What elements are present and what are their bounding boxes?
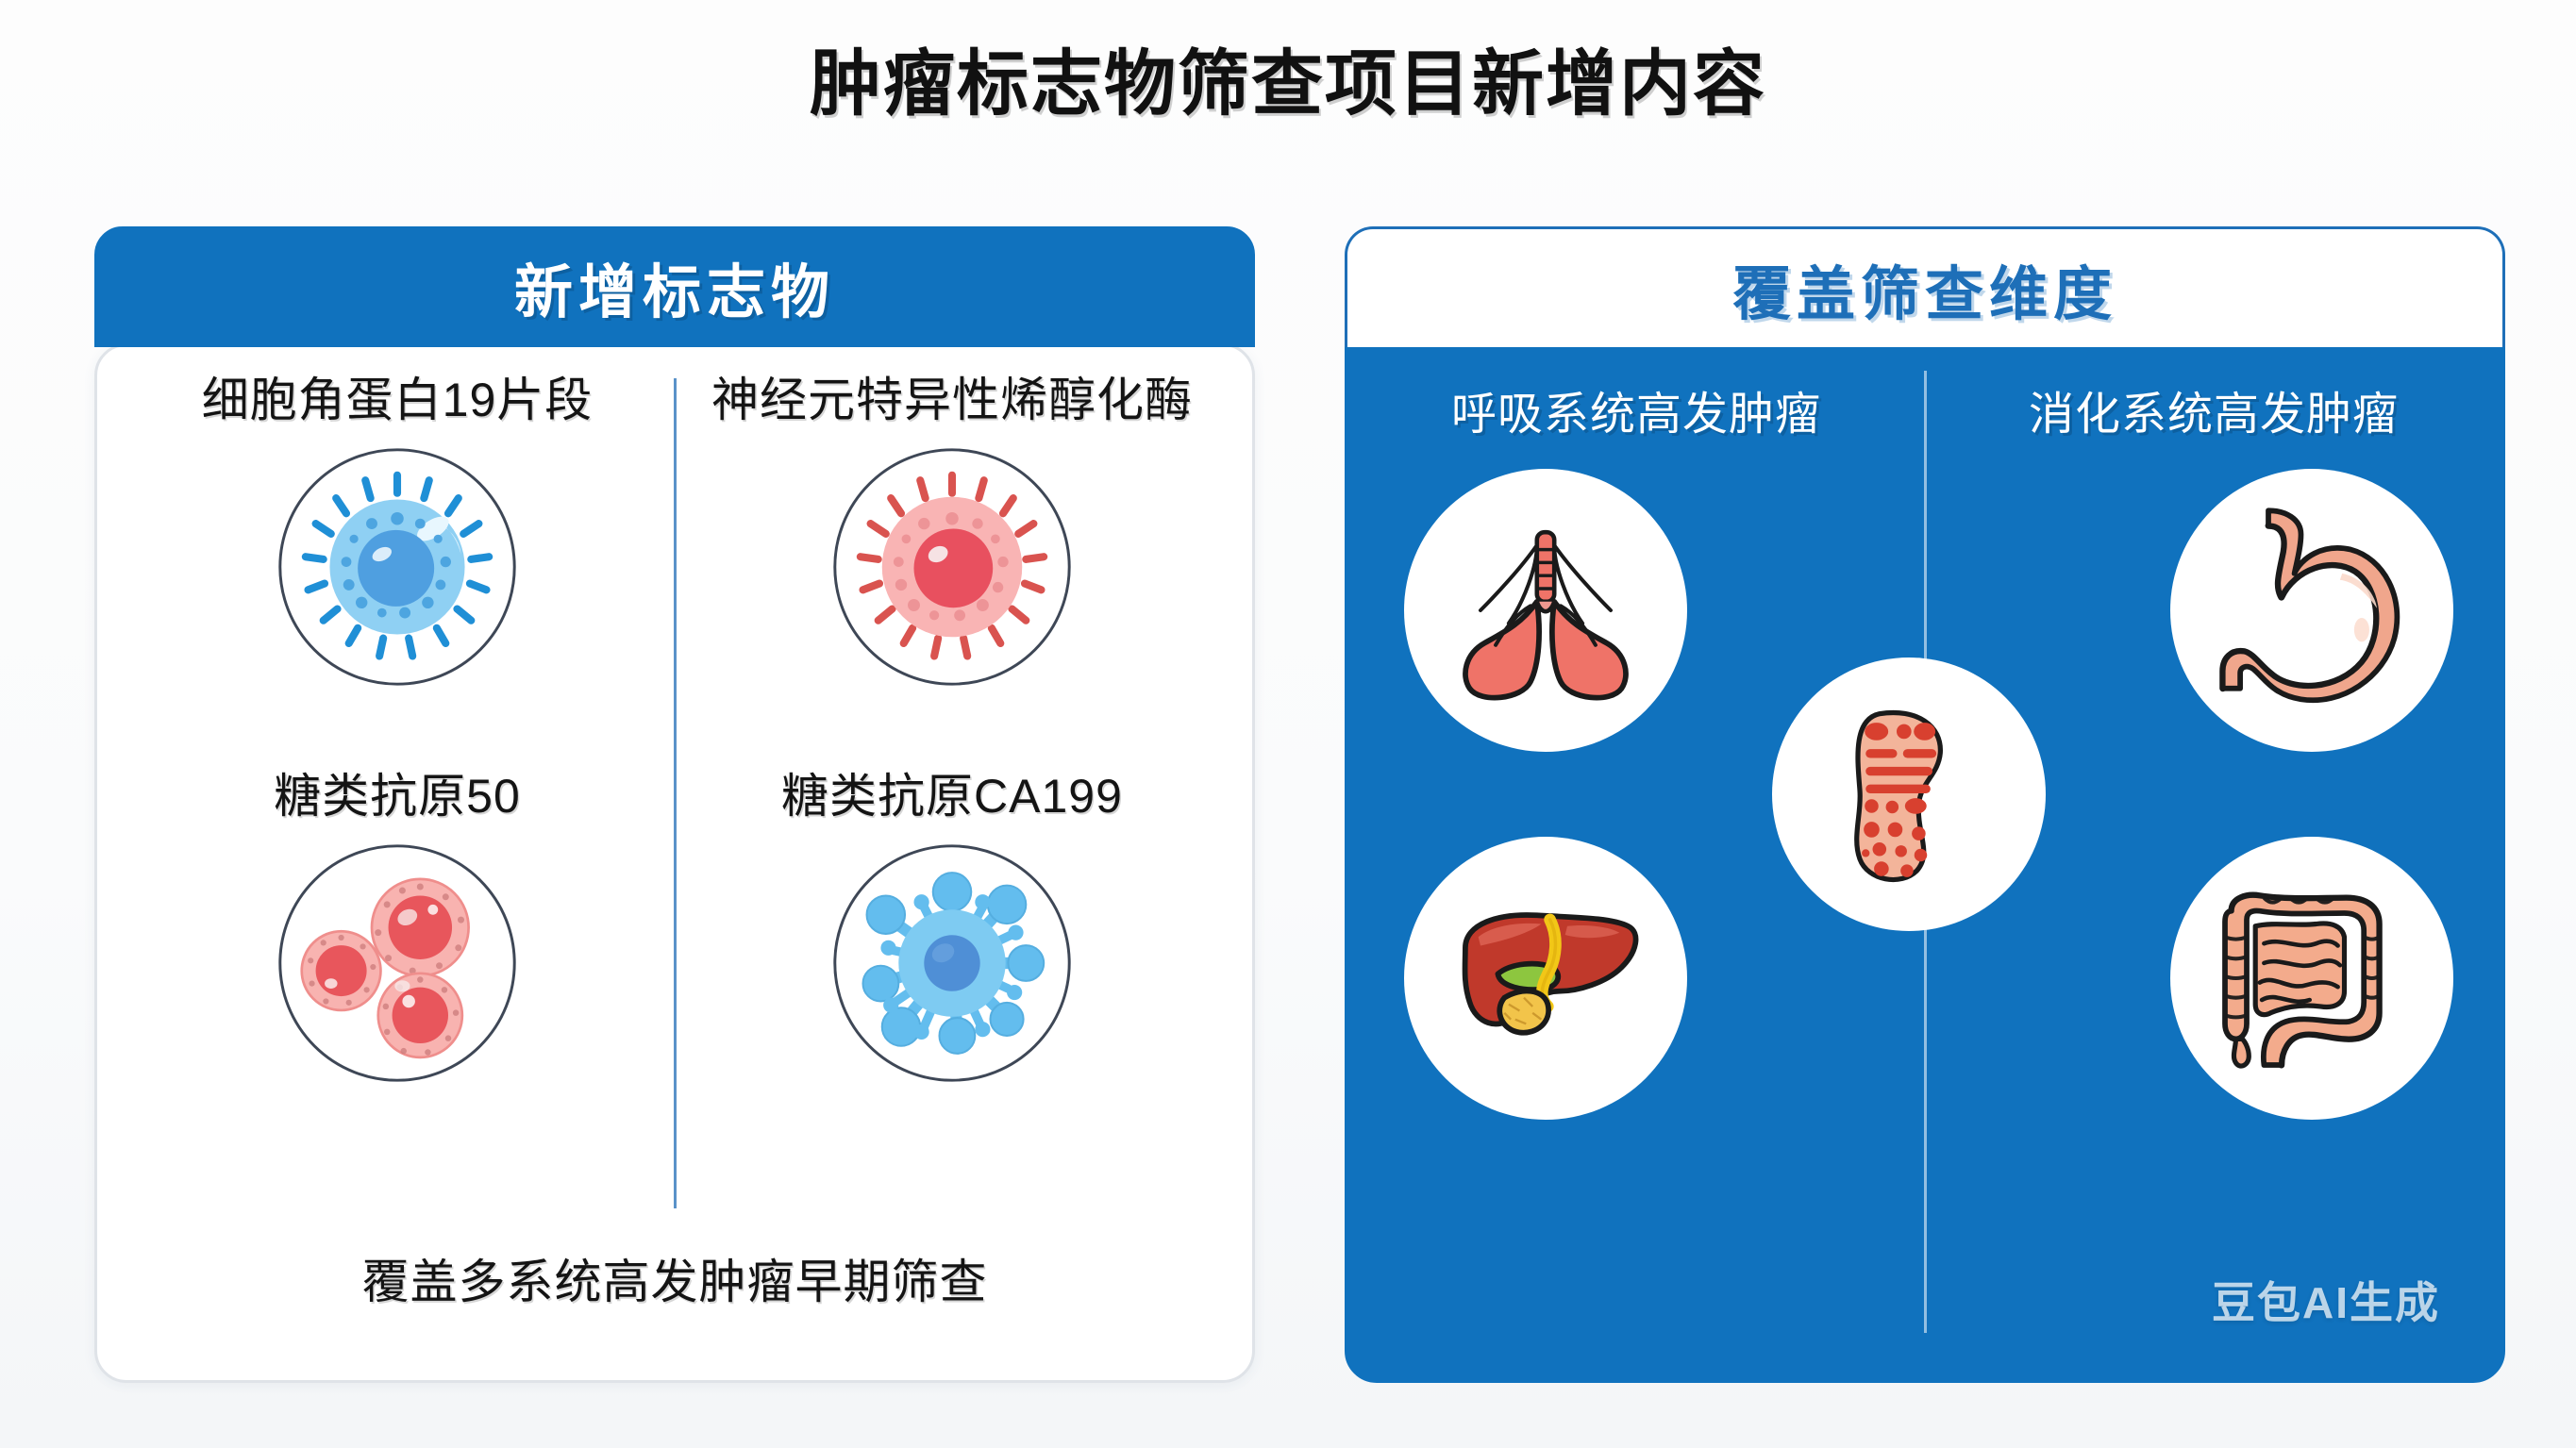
left-panel-caption: 覆盖多系统高发肿瘤早期筛查: [97, 1244, 1252, 1312]
marker-item-ca50[interactable]: 糖类抗原50: [120, 771, 675, 1167]
intestines-icon: [2203, 870, 2420, 1087]
marker-label: 细胞角蛋白19片段: [202, 374, 594, 426]
organ-badge-liver[interactable]: [1404, 837, 1687, 1120]
organ-badge-stomach[interactable]: [2170, 469, 2453, 752]
blue-cell-icon: [270, 440, 525, 699]
stomach-icon: [2203, 502, 2420, 719]
screening-dimensions-body: 呼吸系统高发肿瘤 消化系统高发肿瘤: [1345, 343, 2505, 1383]
marker-label: 糖类抗原50: [274, 771, 521, 823]
dimension-label-digestive: 消化系统高发肿瘤: [1925, 376, 2502, 442]
new-markers-body: 细胞角蛋白19片段: [94, 343, 1255, 1383]
lungs-icon: [1437, 502, 1654, 719]
screening-dimensions-banner-label: 覆盖筛查维度: [1732, 246, 2117, 331]
marker-label: 糖类抗原CA199: [781, 771, 1123, 823]
pancreas-icon: [1811, 696, 2007, 892]
blue-virus-antigen-icon: [825, 836, 1079, 1095]
organ-badge-pancreas[interactable]: [1772, 657, 2046, 931]
screening-dimensions-panel: 覆盖筛查维度 呼吸系统高发肿瘤 消化系统高发肿瘤: [1345, 226, 2505, 1387]
watermark-label: 豆包AI生成: [2212, 1269, 2440, 1331]
new-markers-banner-label: 新增标志物: [514, 244, 835, 329]
new-markers-banner: 新增标志物: [94, 226, 1255, 347]
marker-item-ca199[interactable]: 糖类抗原CA199: [675, 771, 1229, 1167]
new-markers-panel: 新增标志物 细胞角蛋白19片段: [94, 226, 1255, 1387]
page-title: 肿瘤标志物筛查项目新增内容: [0, 43, 2576, 125]
marker-item-nse[interactable]: 神经元特异性烯醇化酶: [675, 374, 1229, 771]
liver-icon: [1437, 870, 1654, 1087]
organ-badge-intestines[interactable]: [2170, 837, 2453, 1120]
pink-cell-icon: [825, 440, 1079, 699]
organ-badge-lungs[interactable]: [1404, 469, 1687, 752]
red-blood-cells-icon: [270, 836, 525, 1095]
dimension-label-respiratory: 呼吸系统高发肿瘤: [1347, 376, 1925, 442]
marker-label: 神经元特异性烯醇化酶: [711, 374, 1193, 426]
marker-item-cyfra21-1[interactable]: 细胞角蛋白19片段: [120, 374, 675, 771]
screening-dimensions-banner: 覆盖筛查维度: [1345, 226, 2505, 347]
